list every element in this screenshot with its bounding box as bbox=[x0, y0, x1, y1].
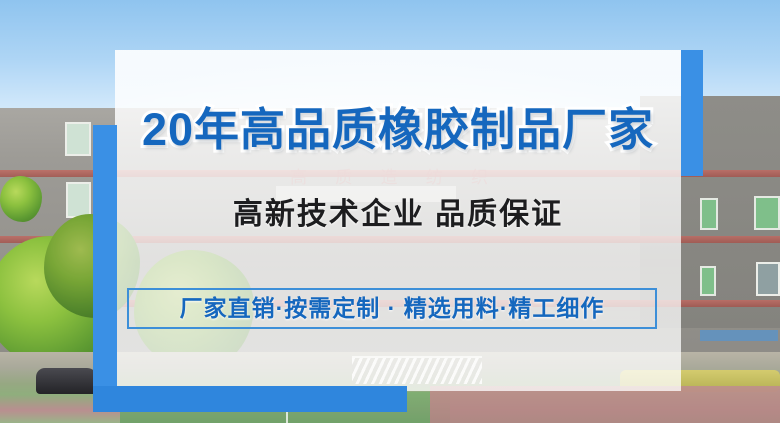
sports-court-red bbox=[430, 386, 780, 423]
blue-awning bbox=[700, 330, 778, 341]
building-window bbox=[756, 262, 780, 296]
promotional-banner: 高 质 造 纺 织 20年高品质橡胶制品厂家 高新技术企业 品质保证 厂家直销·… bbox=[0, 0, 780, 423]
building-window bbox=[65, 122, 91, 156]
parked-car bbox=[36, 368, 98, 394]
banner-subheadline: 高新技术企业 品质保证 bbox=[115, 200, 681, 230]
accent-bar-right bbox=[681, 50, 703, 176]
banner-headline: 20年高品质橡胶制品厂家 bbox=[115, 107, 681, 152]
building-window bbox=[754, 196, 780, 230]
banner-tagline: 厂家直销·按需定制 · 精选用料·精工细作 bbox=[180, 297, 605, 320]
accent-bar-left bbox=[93, 125, 117, 390]
building-window bbox=[66, 182, 91, 218]
tagline-box: 厂家直销·按需定制 · 精选用料·精工细作 bbox=[127, 288, 657, 329]
building-window bbox=[700, 198, 718, 230]
banner-text-block: 20年高品质橡胶制品厂家 高新技术企业 品质保证 厂家直销·按需定制 · 精选用… bbox=[115, 50, 681, 391]
tree bbox=[0, 176, 42, 222]
building-window bbox=[700, 266, 716, 296]
